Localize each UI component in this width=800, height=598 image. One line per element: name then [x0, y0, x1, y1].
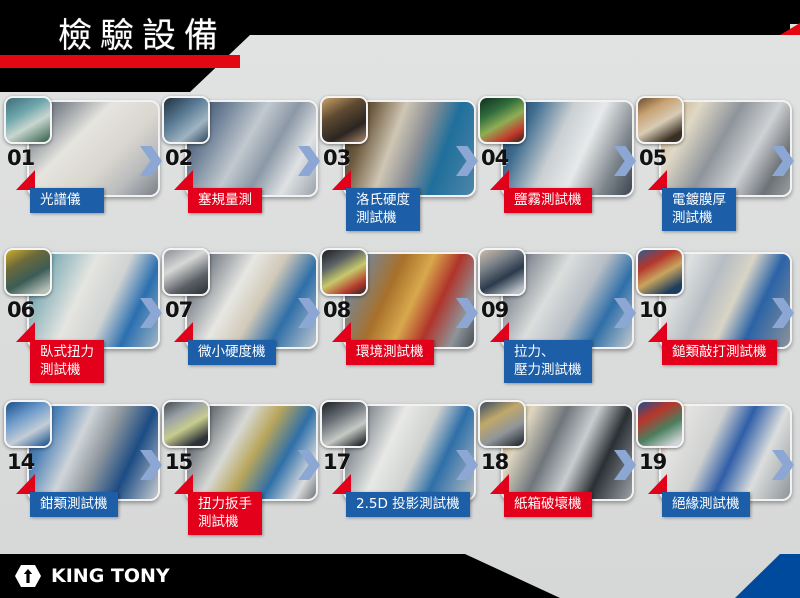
equipment-item-10[interactable]: 10鎚類敲打測試機	[634, 246, 794, 396]
equipment-label-02: 塞規量測	[188, 188, 262, 213]
equipment-thumbnail-06	[4, 248, 52, 296]
equipment-number: 09	[481, 298, 508, 322]
equipment-item-05[interactable]: 05電鍍膜厚測試機	[634, 94, 794, 244]
thumbnail-image	[6, 250, 50, 294]
thumbnail-image	[6, 402, 50, 446]
equipment-thumbnail-05	[636, 96, 684, 144]
equipment-thumbnail-17	[320, 400, 368, 448]
equipment-row-1: 01光譜儀02塞規量測03洛氏硬度測試機04鹽霧測試機05電鍍膜厚測試機	[0, 94, 800, 244]
equipment-number: 06	[7, 298, 34, 322]
chevron-right-icon	[298, 298, 320, 328]
chevron-right-icon	[456, 146, 478, 176]
label-line-1: 微小硬度機	[198, 344, 266, 360]
label-line-1: 扭力扳手	[198, 496, 252, 512]
thumbnail-image	[164, 250, 208, 294]
equipment-number: 10	[639, 298, 666, 322]
flow-arrow-icon	[298, 298, 320, 328]
equipment-label-05: 電鍍膜厚測試機	[662, 188, 736, 231]
flow-arrow-icon	[456, 298, 478, 328]
chevron-right-icon	[140, 298, 162, 328]
flow-arrow-icon	[456, 146, 478, 176]
chevron-right-icon	[456, 298, 478, 328]
equipment-item-02[interactable]: 02塞規量測	[160, 94, 320, 244]
chevron-right-icon	[456, 450, 478, 480]
label-line-2: 壓力測試機	[514, 361, 582, 379]
flow-arrow-icon	[614, 298, 636, 328]
equipment-number: 07	[165, 298, 192, 322]
equipment-label-03: 洛氏硬度測試機	[346, 188, 420, 231]
brand-name: KING TONY	[51, 565, 170, 587]
flow-arrow-icon	[614, 146, 636, 176]
label-line-1: 鹽霧測試機	[514, 192, 582, 208]
equipment-item-09[interactable]: 09拉力、壓力測試機	[476, 246, 636, 396]
equipment-thumbnail-01	[4, 96, 52, 144]
equipment-item-18[interactable]: 18紙箱破壞機	[476, 398, 636, 548]
red-triangle-marker	[648, 170, 667, 190]
chevron-right-icon	[298, 146, 320, 176]
label-line-2: 測試機	[40, 361, 94, 379]
equipment-label-04: 鹽霧測試機	[504, 188, 592, 213]
equipment-label-01: 光譜儀	[30, 188, 104, 213]
equipment-label-07: 微小硬度機	[188, 340, 276, 365]
flow-arrow-icon	[298, 450, 320, 480]
footer: KING TONY	[0, 554, 800, 598]
thumbnail-image	[480, 402, 524, 446]
equipment-thumbnail-15	[162, 400, 210, 448]
equipment-item-17[interactable]: 172.5D 投影測試機	[318, 398, 478, 548]
equipment-thumbnail-04	[478, 96, 526, 144]
thumbnail-image	[638, 250, 682, 294]
equipment-thumbnail-18	[478, 400, 526, 448]
flow-arrow-icon	[614, 450, 636, 480]
equipment-item-07[interactable]: 07微小硬度機	[160, 246, 320, 396]
label-line-1: 電鍍膜厚	[672, 192, 726, 208]
equipment-item-06[interactable]: 06臥式扭力測試機	[2, 246, 162, 396]
flow-arrow-icon	[772, 450, 794, 480]
equipment-label-19: 絕緣測試機	[662, 492, 750, 517]
equipment-row-2: 06臥式扭力測試機07微小硬度機08環境測試機09拉力、壓力測試機10鎚類敲打測…	[0, 246, 800, 396]
kingtony-hexagon-logo-icon	[14, 564, 42, 588]
label-line-2: 測試機	[198, 513, 252, 531]
equipment-thumbnail-19	[636, 400, 684, 448]
equipment-number: 08	[323, 298, 350, 322]
thumbnail-image	[164, 402, 208, 446]
label-line-1: 光譜儀	[40, 192, 81, 208]
equipment-number: 17	[323, 450, 350, 474]
thumbnail-image	[6, 98, 50, 142]
equipment-thumbnail-09	[478, 248, 526, 296]
equipment-number: 02	[165, 146, 192, 170]
equipment-number: 19	[639, 450, 666, 474]
equipment-thumbnail-03	[320, 96, 368, 144]
flow-arrow-icon	[772, 298, 794, 328]
brand-logo: KING TONY	[14, 563, 170, 589]
equipment-item-14[interactable]: 14鉗類測試機	[2, 398, 162, 548]
label-line-1: 拉力、	[514, 344, 555, 360]
red-triangle-marker	[16, 474, 35, 494]
equipment-item-08[interactable]: 08環境測試機	[318, 246, 478, 396]
equipment-label-14: 鉗類測試機	[30, 492, 118, 517]
equipment-thumbnail-02	[162, 96, 210, 144]
red-triangle-marker	[648, 474, 667, 494]
equipment-label-09: 拉力、壓力測試機	[504, 340, 592, 383]
thumbnail-image	[638, 98, 682, 142]
equipment-label-17: 2.5D 投影測試機	[346, 492, 470, 517]
label-line-1: 塞規量測	[198, 192, 252, 208]
equipment-label-08: 環境測試機	[346, 340, 434, 365]
equipment-row-3: 14鉗類測試機15扭力扳手測試機172.5D 投影測試機18紙箱破壞機19絕緣測…	[0, 398, 800, 548]
equipment-grid: 01光譜儀02塞規量測03洛氏硬度測試機04鹽霧測試機05電鍍膜厚測試機 06臥…	[0, 94, 800, 536]
thumbnail-image	[322, 250, 366, 294]
chevron-right-icon	[772, 298, 794, 328]
thumbnail-image	[322, 402, 366, 446]
equipment-item-19[interactable]: 19絕緣測試機	[634, 398, 794, 548]
flow-arrow-icon	[298, 146, 320, 176]
chevron-right-icon	[614, 146, 636, 176]
chevron-right-icon	[772, 450, 794, 480]
equipment-thumbnail-10	[636, 248, 684, 296]
chevron-right-icon	[140, 146, 162, 176]
equipment-item-04[interactable]: 04鹽霧測試機	[476, 94, 636, 244]
label-line-1: 2.5D 投影測試機	[356, 496, 460, 512]
label-line-2: 測試機	[356, 209, 410, 227]
equipment-label-18: 紙箱破壞機	[504, 492, 592, 517]
chevron-right-icon	[614, 298, 636, 328]
chevron-right-icon	[614, 450, 636, 480]
equipment-thumbnail-14	[4, 400, 52, 448]
thumbnail-image	[480, 98, 524, 142]
flow-arrow-icon	[456, 450, 478, 480]
equipment-label-06: 臥式扭力測試機	[30, 340, 104, 383]
thumbnail-image	[322, 98, 366, 142]
label-line-1: 環境測試機	[356, 344, 424, 360]
red-triangle-marker	[16, 170, 35, 190]
thumbnail-image	[164, 98, 208, 142]
label-line-1: 鎚類敲打測試機	[672, 344, 767, 360]
flow-arrow-icon	[140, 298, 162, 328]
equipment-number: 18	[481, 450, 508, 474]
label-line-1: 臥式扭力	[40, 344, 94, 360]
equipment-thumbnail-08	[320, 248, 368, 296]
red-triangle-marker	[16, 322, 35, 342]
label-line-1: 鉗類測試機	[40, 496, 108, 512]
chevron-right-icon	[140, 450, 162, 480]
equipment-label-10: 鎚類敲打測試機	[662, 340, 777, 365]
thumbnail-image	[638, 402, 682, 446]
equipment-number: 15	[165, 450, 192, 474]
label-line-1: 洛氏硬度	[356, 192, 410, 208]
page-title: 檢驗設備	[58, 8, 226, 57]
label-line-2: 測試機	[672, 209, 726, 227]
chevron-right-icon	[298, 450, 320, 480]
equipment-number: 14	[7, 450, 34, 474]
label-line-1: 紙箱破壞機	[514, 496, 582, 512]
flow-arrow-icon	[140, 146, 162, 176]
equipment-number: 04	[481, 146, 508, 170]
flow-arrow-icon	[772, 146, 794, 176]
slide-canvas: 檢驗設備 01光譜儀02塞規量測03洛氏硬度測試機04鹽霧測試機05電鍍膜厚測試…	[0, 0, 800, 598]
equipment-number: 05	[639, 146, 666, 170]
chevron-right-icon	[772, 146, 794, 176]
equipment-label-15: 扭力扳手測試機	[188, 492, 262, 535]
equipment-thumbnail-07	[162, 248, 210, 296]
label-line-1: 絕緣測試機	[672, 496, 740, 512]
equipment-number: 03	[323, 146, 350, 170]
red-triangle-marker	[648, 322, 667, 342]
flow-arrow-icon	[140, 450, 162, 480]
equipment-number: 01	[7, 146, 34, 170]
thumbnail-image	[480, 250, 524, 294]
equipment-item-03[interactable]: 03洛氏硬度測試機	[318, 94, 478, 244]
equipment-item-15[interactable]: 15扭力扳手測試機	[160, 398, 320, 548]
equipment-item-01[interactable]: 01光譜儀	[2, 94, 162, 244]
